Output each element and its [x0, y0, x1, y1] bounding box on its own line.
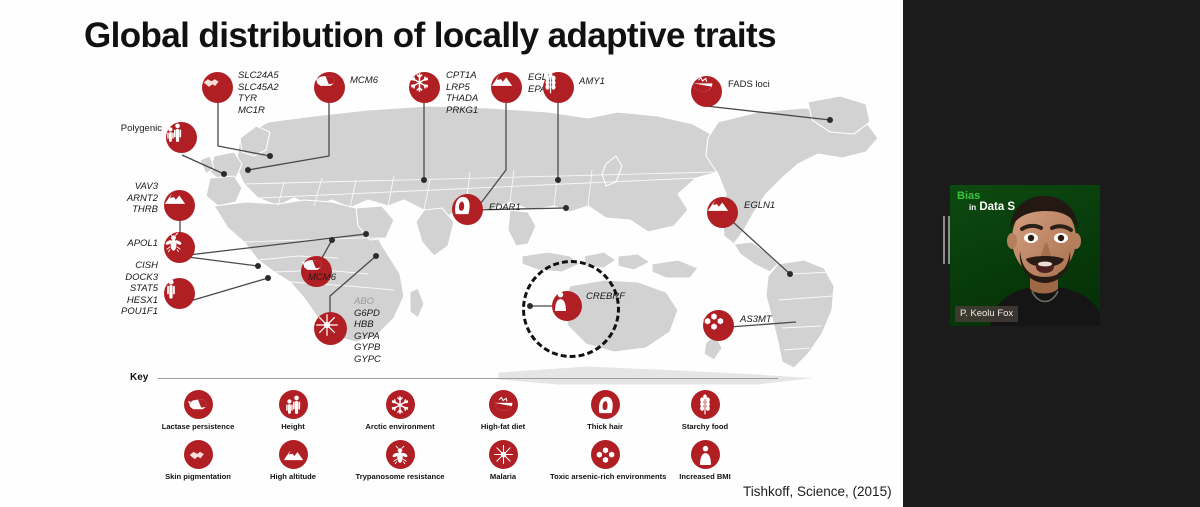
marker-label-increased-bmi-samoa: CREBRF [586, 291, 625, 303]
legend-item-high-fat-diet[interactable]: High-fat diet [448, 390, 558, 431]
legend-label: Thick hair [550, 422, 660, 431]
legend-item-thick-hair[interactable]: Thick hair [550, 390, 660, 431]
marker-starchy-food-asia[interactable] [543, 72, 574, 103]
marker-trypanosome-africa[interactable] [164, 232, 195, 263]
marker-label-malaria-africa: ABO G6PD HBB GYPA GYPB GYPC [354, 296, 381, 366]
height-icon [285, 394, 301, 416]
panel-resize-handle[interactable] [943, 216, 950, 264]
legend-label: Starchy food [650, 422, 760, 431]
marker-label-high-altitude-andes: EGLN1 [744, 200, 775, 212]
marker-increased-bmi-samoa[interactable] [552, 291, 582, 321]
hair-icon [596, 394, 615, 415]
bmi-icon [552, 291, 569, 311]
legend-label: Height [248, 422, 338, 431]
legend-row-1: Lactase persistence [130, 390, 770, 446]
legend-label: Arctic environment [335, 422, 465, 431]
legend-label: Trypanosome resistance [335, 472, 465, 481]
cow-icon [314, 72, 337, 90]
legend-label: Malaria [448, 472, 558, 481]
bmi-icon [697, 445, 714, 465]
mountain-icon [707, 197, 729, 213]
screen: Global distribution of locally adaptive … [0, 0, 1200, 507]
malaria-icon [492, 443, 515, 466]
legend-label: Increased BMI [650, 472, 760, 481]
marker-label-lactase-europe: MCM6 [350, 75, 378, 87]
whale-icon [691, 76, 714, 94]
legend-item-malaria[interactable]: Malaria [448, 440, 558, 481]
arsenic-icon [703, 310, 725, 332]
legend-item-lactase-persistence[interactable]: Lactase persistence [138, 390, 258, 431]
marker-high-altitude-tibet[interactable] [491, 72, 522, 103]
cow-icon [187, 396, 209, 413]
marker-label-skin-pigmentation-europe: SLC24A5 SLC45A2 TYR MC1R [238, 70, 279, 116]
legend-rule [158, 378, 778, 379]
marker-label-lactase-africa: MCM6 [308, 272, 336, 284]
mountain-icon [164, 190, 186, 206]
marker-malaria-africa[interactable] [314, 312, 347, 345]
legend-item-skin-pigmentation[interactable]: Skin pigmentation [138, 440, 258, 481]
legend-title: Key [130, 372, 148, 383]
legend-item-arctic-environment[interactable]: Arctic environment [335, 390, 465, 431]
legend-label: Skin pigmentation [138, 472, 258, 481]
page-title: Global distribution of locally adaptive … [84, 16, 776, 56]
marker-lactase-europe[interactable] [314, 72, 345, 103]
marker-label-starchy-food-asia: AMY1 [579, 76, 605, 88]
height-icon [164, 278, 178, 300]
marker-skin-pigmentation-europe[interactable] [202, 72, 233, 103]
marker-label-trypanosome-africa: APOL1 [100, 238, 158, 250]
snowflake-icon [409, 72, 430, 93]
source-citation: Tishkoff, Science, (2015) [743, 484, 892, 499]
world-map: SLC24A5 SLC45A2 TYR MC1R MCM6 [118, 60, 888, 385]
legend-label: Lactase persistence [138, 422, 258, 431]
legend-row-2: Skin pigmentation High altitude [130, 440, 770, 496]
legend-item-high-altitude[interactable]: High altitude [248, 440, 338, 481]
overlay-title-in: in [969, 203, 976, 212]
marker-label-height-africa: CISH DOCK3 STAT5 HESX1 POU1F1 [94, 260, 158, 318]
legend-item-increased-bmi[interactable]: Increased BMI [650, 440, 760, 481]
marker-label-high-fat-diet-greenland: FADS loci [728, 79, 770, 91]
marker-height-polygenic-europe[interactable] [166, 122, 197, 153]
legend-item-toxic-arsenic-rich-environments[interactable]: Toxic arsenic-rich environments [550, 440, 660, 481]
marker-arctic-siberia[interactable] [409, 72, 440, 103]
marker-high-altitude-andes[interactable] [707, 197, 738, 228]
marker-label-height-polygenic-europe: Polygenic [108, 123, 162, 135]
handshake-icon [188, 445, 208, 465]
marker-label-high-altitude-ethiopia: VAV3 ARNT2 THRB [96, 181, 158, 216]
video-overlay-title: Bias in Data S [957, 190, 1015, 214]
marker-thick-hair-asia[interactable] [452, 194, 483, 225]
mountain-icon [283, 447, 304, 462]
legend-label: High-fat diet [448, 422, 558, 431]
map-graphic [118, 60, 888, 385]
marker-high-altitude-ethiopia[interactable] [164, 190, 195, 221]
snowflake-icon [390, 395, 410, 415]
legend-item-trypanosome-resistance[interactable]: Trypanosome resistance [335, 440, 465, 481]
legend-label: Toxic arsenic-rich environments [550, 472, 660, 481]
marker-height-africa[interactable] [164, 278, 195, 309]
speaker-name-label: P. Keolu Fox [955, 306, 1018, 322]
wheat-icon [543, 72, 558, 95]
wheat-icon [698, 394, 712, 416]
malaria-icon [314, 312, 340, 338]
marker-arsenic-andes[interactable] [703, 310, 734, 341]
mountain-icon [491, 72, 513, 88]
overlay-title-data: in Data S [969, 201, 1015, 214]
hair-icon [452, 194, 472, 216]
marker-label-arsenic-andes: AS3MT [740, 314, 772, 326]
height-icon [166, 122, 182, 144]
marker-label-arctic-siberia: CPT1A LRP5 THADA PRKG1 [446, 70, 478, 116]
speaker-video-thumbnail[interactable]: Bias in Data S P. Keolu Fox [950, 185, 1100, 326]
handshake-icon [202, 72, 223, 93]
legend-item-height[interactable]: Height [248, 390, 338, 431]
whale-icon [492, 396, 514, 413]
handle-bar [943, 216, 945, 264]
marker-label-thick-hair-asia: EDAR1 [489, 202, 521, 214]
video-side-panel: Bias in Data S P. Keolu Fox [903, 0, 1200, 507]
tsetse-icon [391, 445, 409, 465]
presentation-slide: Global distribution of locally adaptive … [0, 0, 903, 507]
arsenic-icon [595, 444, 616, 465]
tsetse-icon [164, 232, 183, 253]
legend-label: High altitude [248, 472, 338, 481]
marker-high-fat-diet-greenland[interactable] [691, 76, 722, 107]
legend-item-starchy-food[interactable]: Starchy food [650, 390, 760, 431]
